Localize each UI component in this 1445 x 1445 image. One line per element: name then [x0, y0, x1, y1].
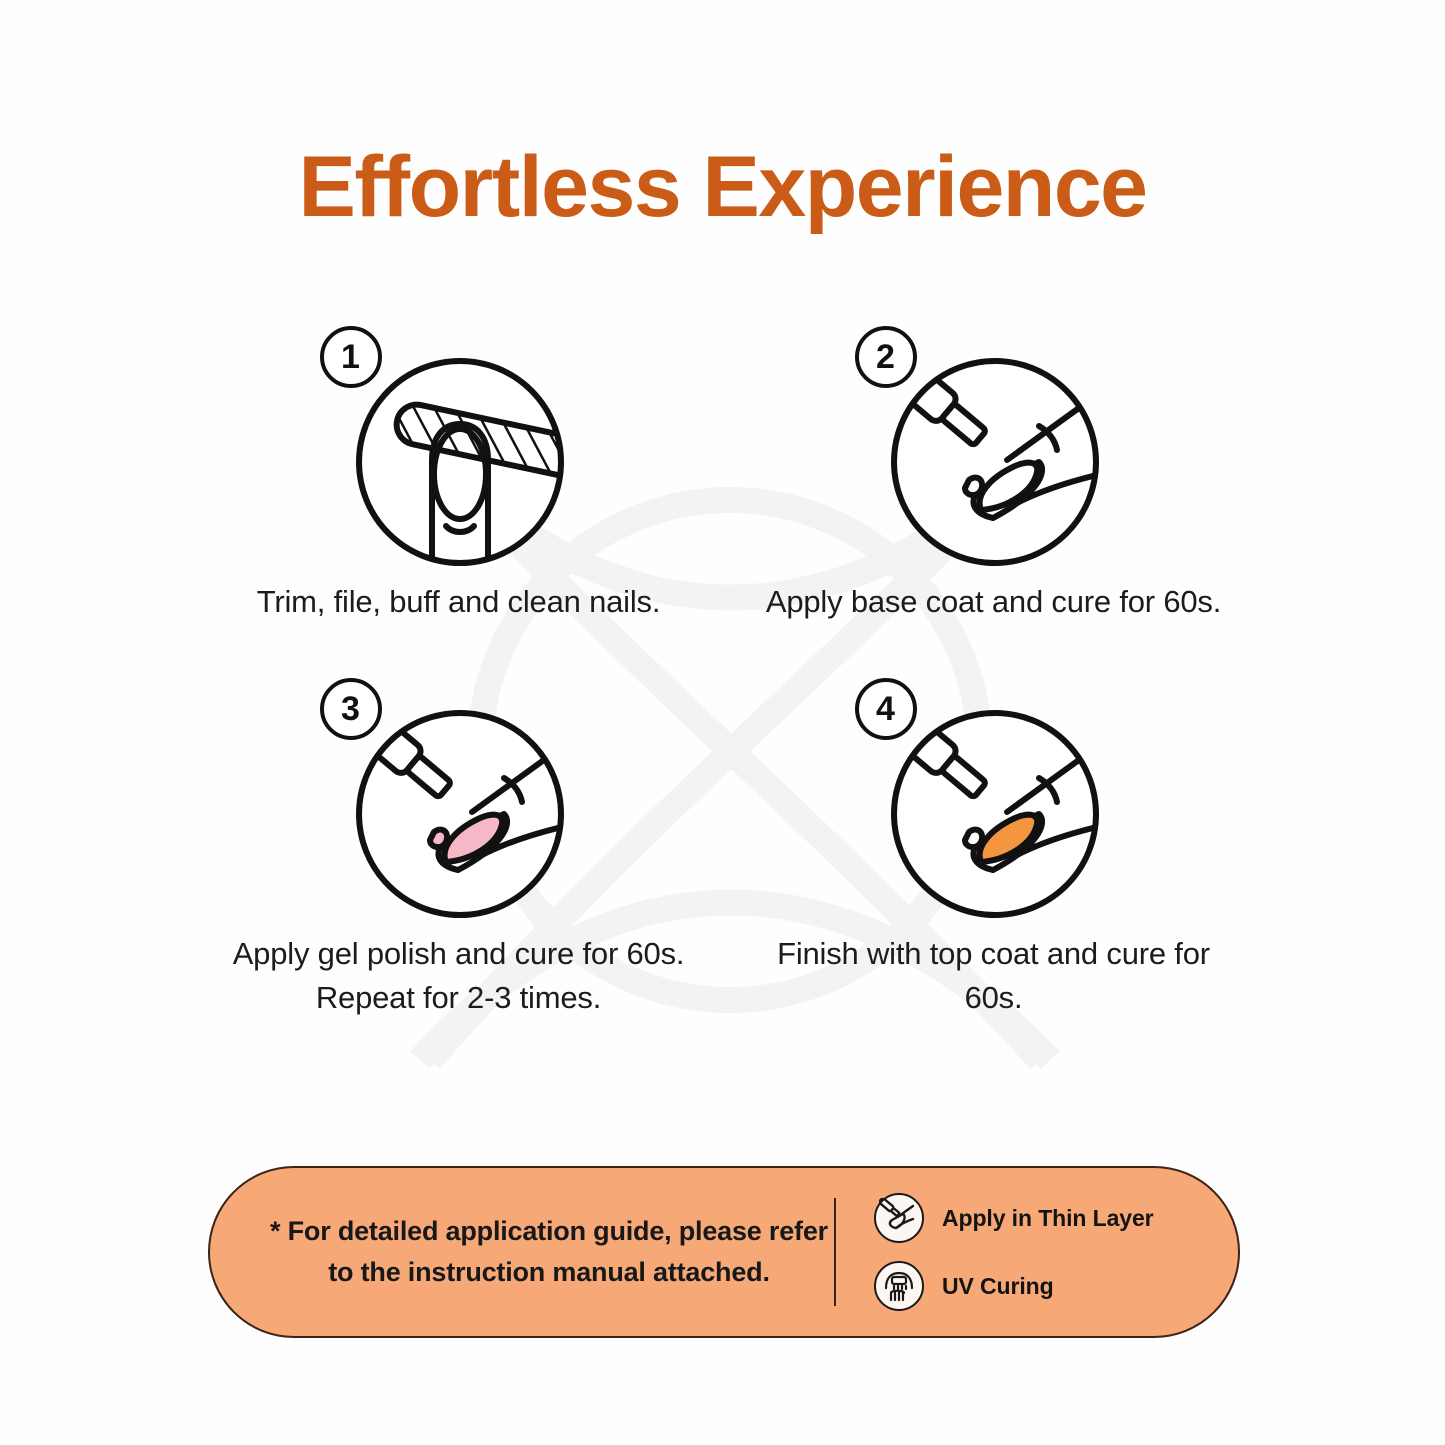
- brush-base-coat-icon: [889, 356, 1101, 568]
- step-illustration-wrap-4: 4: [839, 670, 1149, 920]
- uv-curing-lamp-icon: [874, 1261, 924, 1311]
- feature-label-apply-thin-layer: Apply in Thin Layer: [942, 1205, 1154, 1232]
- banner-note-text: * For detailed application guide, please…: [210, 1211, 830, 1293]
- step-number-badge-3: 3: [320, 678, 382, 740]
- step-caption-2: Apply base coat and cure for 60s.: [759, 580, 1229, 624]
- brush-top-coat-icon: [889, 708, 1101, 920]
- step-item-2: 2: [731, 318, 1256, 624]
- feature-uv-curing: UV Curing: [874, 1261, 1238, 1311]
- brush-gel-polish-icon: [354, 708, 566, 920]
- step-caption-1: Trim, file, buff and clean nails.: [224, 580, 694, 624]
- step-caption-3: Apply gel polish and cure for 60s. Repea…: [224, 932, 694, 1020]
- step-number-badge-4: 4: [855, 678, 917, 740]
- apply-thin-layer-icon: [874, 1193, 924, 1243]
- step-caption-4: Finish with top coat and cure for 60s.: [759, 932, 1229, 1020]
- steps-grid: 1: [196, 318, 1256, 1020]
- step-number-badge-2: 2: [855, 326, 917, 388]
- effortless-experience-infographic: Effortless Experience 1: [0, 0, 1445, 1445]
- feature-apply-thin-layer: Apply in Thin Layer: [874, 1193, 1238, 1243]
- instruction-banner: * For detailed application guide, please…: [208, 1166, 1240, 1338]
- step-number-badge-1: 1: [320, 326, 382, 388]
- step-item-3: 3: [196, 670, 721, 1020]
- feature-label-uv-curing: UV Curing: [942, 1273, 1054, 1300]
- banner-features-list: Apply in Thin Layer UV Curing: [836, 1193, 1238, 1311]
- step-illustration-wrap-2: 2: [839, 318, 1149, 568]
- step-illustration-wrap-1: 1: [304, 318, 614, 568]
- step-illustration-wrap-3: 3: [304, 670, 614, 920]
- page-title: Effortless Experience: [0, 142, 1445, 232]
- step-item-4: 4: [731, 670, 1256, 1020]
- nail-file-on-finger-icon: [354, 356, 566, 568]
- step-item-1: 1: [196, 318, 721, 624]
